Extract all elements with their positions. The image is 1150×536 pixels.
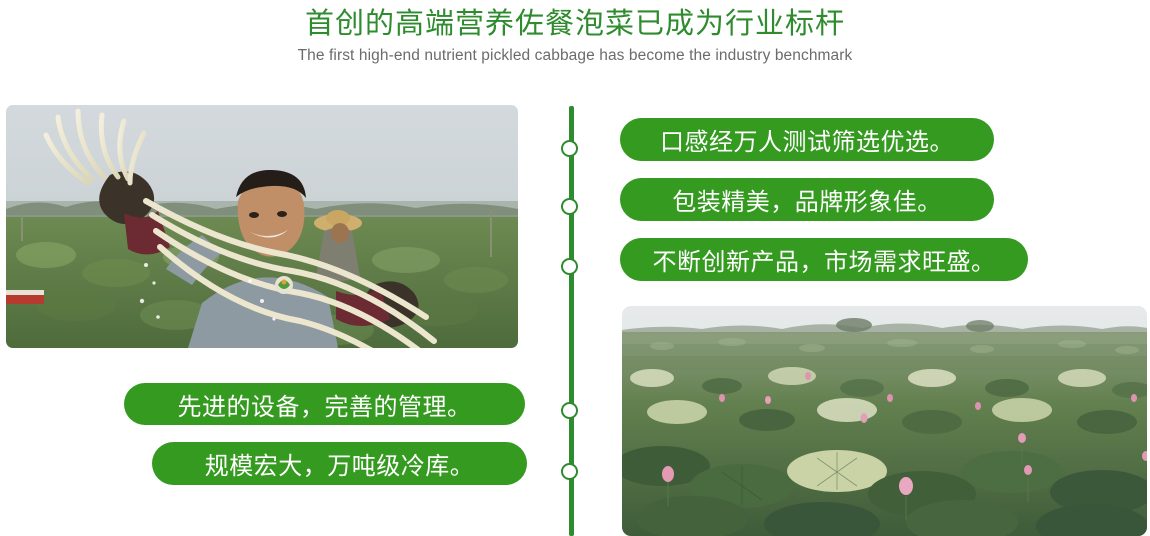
- photo-lotus-harvest: [6, 105, 518, 348]
- feature-pill-coldstorage[interactable]: 规模宏大，万吨级冷库。: [152, 442, 527, 485]
- timeline-node-5: [561, 463, 578, 480]
- page-header: 首创的高端营养佐餐泡菜已成为行业标杆 The first high-end nu…: [0, 0, 1150, 65]
- timeline-node-2: [561, 198, 578, 215]
- timeline: [569, 106, 575, 536]
- photo-lotus-field-graphic: [622, 306, 1147, 536]
- photo-lotus-field: [622, 306, 1147, 536]
- photo-lotus-harvest-graphic: [6, 105, 518, 348]
- feature-pill-packaging[interactable]: 包装精美，品牌形象佳。: [620, 178, 994, 221]
- promo-infographic-page: 首创的高端营养佐餐泡菜已成为行业标杆 The first high-end nu…: [0, 0, 1150, 536]
- timeline-node-1: [561, 140, 578, 157]
- timeline-node-3: [561, 258, 578, 275]
- feature-pill-innovation[interactable]: 不断创新产品，市场需求旺盛。: [620, 238, 1028, 281]
- feature-pill-equipment[interactable]: 先进的设备，完善的管理。: [124, 383, 525, 425]
- feature-pill-taste[interactable]: 口感经万人测试筛选优选。: [620, 118, 994, 161]
- timeline-node-4: [561, 402, 578, 419]
- page-title-cn: 首创的高端营养佐餐泡菜已成为行业标杆: [0, 0, 1150, 42]
- page-title-en: The first high-end nutrient pickled cabb…: [0, 42, 1150, 65]
